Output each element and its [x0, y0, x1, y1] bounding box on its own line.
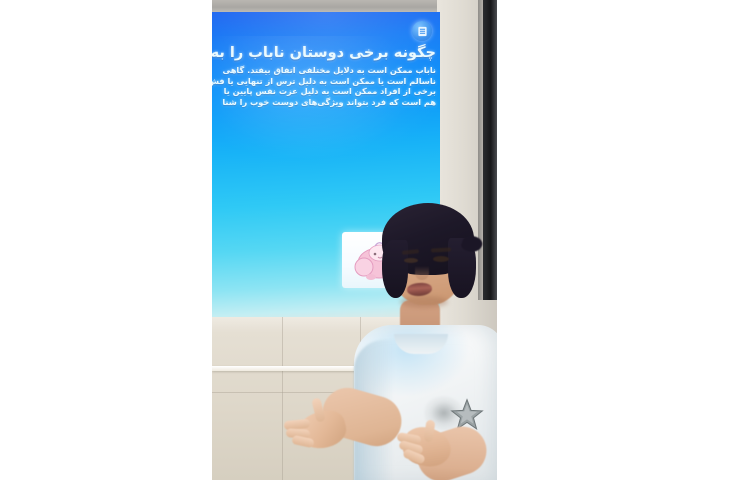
hand-left-gesture — [284, 398, 354, 456]
presenter — [212, 0, 497, 480]
presentation-photo: چگونه برخی دوستان ناباب را به ع ناباب مم… — [212, 0, 497, 480]
eye-left — [404, 258, 418, 263]
eye-right — [433, 256, 449, 262]
hair-side-left — [382, 240, 408, 298]
screenshot-canvas: چگونه برخی دوستان ناباب را به ع ناباب مم… — [0, 0, 750, 480]
hand-right-gesture — [397, 418, 463, 474]
nose — [415, 266, 429, 280]
chin-shadow — [400, 296, 448, 308]
